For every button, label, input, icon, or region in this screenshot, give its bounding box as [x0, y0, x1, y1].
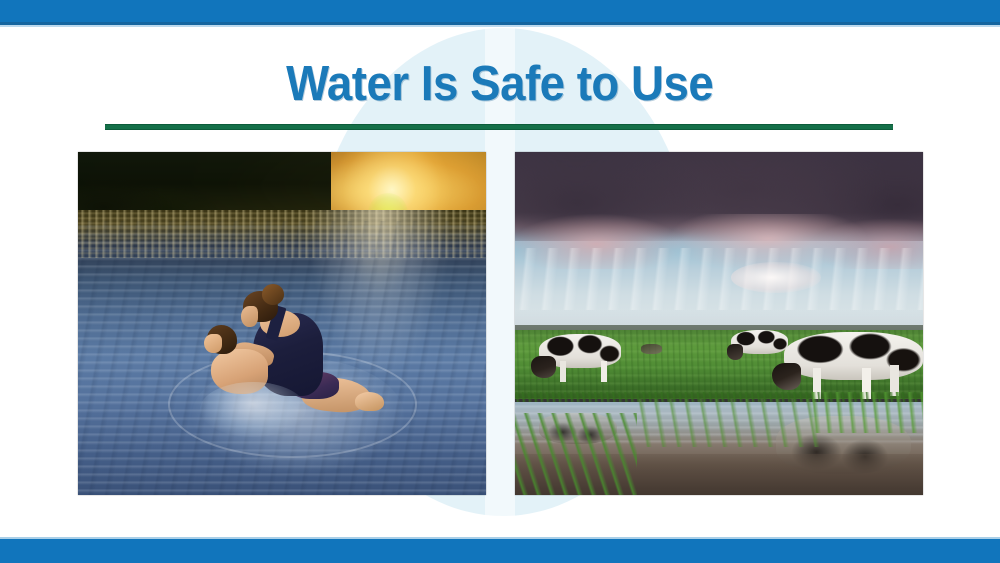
cow-left-head	[531, 356, 555, 378]
woman-face	[241, 306, 257, 327]
top-accent-bar	[0, 0, 1000, 22]
child-water-splash	[200, 382, 306, 437]
photo-left-lake-swimmers	[78, 152, 486, 495]
cow-right-hindleg	[890, 365, 898, 396]
woman-hair-bun	[262, 284, 284, 305]
cow-left-hindleg	[601, 361, 608, 382]
cow-left-foreleg	[560, 361, 567, 382]
page-title-wrapper: Water Is Safe to Use	[0, 60, 1000, 109]
lake-treeline	[78, 152, 331, 210]
top-accent-bar-highlight	[0, 25, 1000, 27]
cloud-streaks	[515, 248, 923, 310]
cow-right-body	[784, 332, 923, 380]
title-underline-rule	[105, 124, 893, 130]
bottom-accent-bar	[0, 539, 1000, 563]
child-face	[204, 334, 221, 353]
slide-canvas: Water Is Safe to Use	[0, 0, 1000, 563]
cow-center-head	[727, 344, 743, 359]
page-title: Water Is Safe to Use	[286, 60, 713, 109]
water-reeds-right	[809, 392, 923, 433]
woman-foot	[355, 392, 384, 411]
cow-right-head	[772, 363, 801, 390]
water-reeds-foreground	[515, 413, 637, 495]
water-reeds-mid	[637, 399, 821, 447]
cloud-puff	[731, 262, 821, 293]
distant-cow	[641, 344, 661, 354]
photo-right-cows-by-water	[515, 152, 923, 495]
